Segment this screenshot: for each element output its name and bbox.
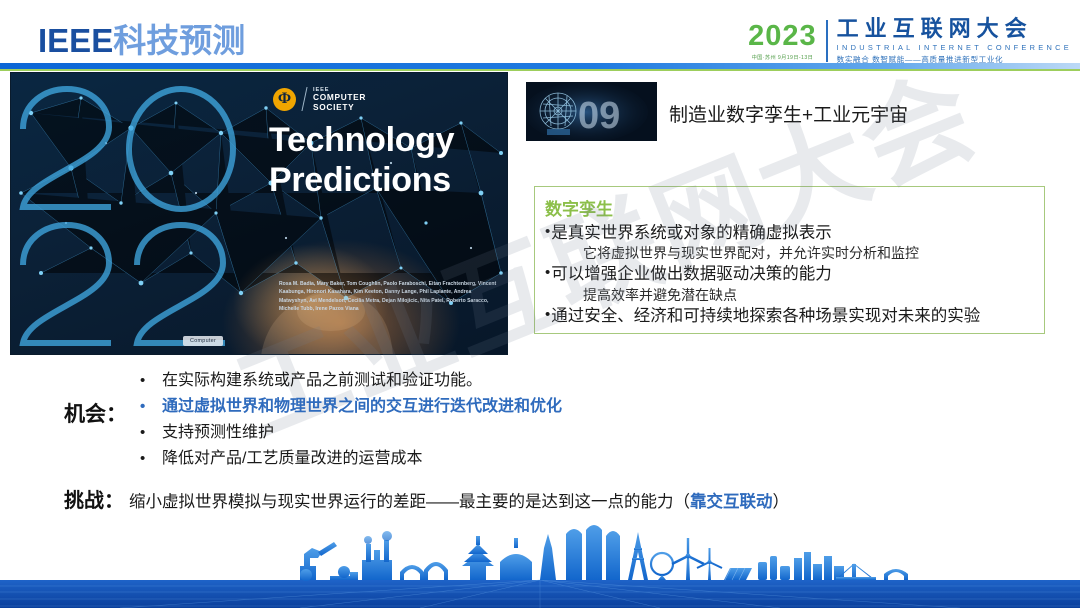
- logo-divider: [301, 87, 307, 111]
- bullet-marker: •: [545, 264, 550, 283]
- cover-badge: Computer: [183, 336, 223, 346]
- definition-title: 数字孪生: [545, 195, 1034, 220]
- conference-name-en: INDUSTRIAL INTERNET CONFERENCE: [837, 43, 1072, 52]
- opportunity-text: 降低对产品/工艺质量改进的运营成本: [162, 446, 422, 472]
- page-title: IEEE科技预测: [38, 14, 245, 62]
- logo-text: IEEE COMPUTER SOCIETY: [313, 87, 366, 112]
- bullet-text: 可以增强企业做出数据驱动决策的能力: [551, 264, 832, 285]
- item-number-graphic: 09: [578, 95, 620, 137]
- conference-logo-divider: [826, 20, 828, 62]
- conference-date: 中国·苏州 9月19日-13日: [752, 54, 814, 61]
- challenge-text: 缩小虚拟世界模拟与现实世界运行的差距——最主要的是达到这一点的能力（: [129, 488, 690, 512]
- digital-twin-definition-box: 数字孪生 • 是真实世界系统或对象的精确虚拟表示 它将虚拟世界与现实世界配对，并…: [534, 186, 1045, 334]
- definition-subtext: 提高效率并避免潜在缺点: [583, 286, 1034, 306]
- bullet-marker: •: [545, 223, 550, 242]
- conference-name-cn: 工业互联网大会: [837, 17, 1072, 40]
- challenge-paren-close: ）: [773, 488, 790, 512]
- bullet-marker: •: [140, 369, 162, 393]
- challenge-highlight: 靠交互联动: [690, 488, 773, 512]
- footer-skyline-graphic: [0, 518, 1080, 608]
- opportunity-text: 通过虚拟世界和物理世界之间的交互进行迭代改进和优化: [162, 394, 562, 420]
- bullet-marker: •: [140, 421, 162, 445]
- opportunity-item: • 降低对产品/工艺质量改进的运营成本: [140, 446, 764, 472]
- opportunities-label: 机会：: [64, 398, 127, 428]
- page-title-secondary: 科技预测: [113, 22, 245, 59]
- opportunity-text: 支持预测性维护: [162, 420, 274, 446]
- definition-bullet: • 可以增强企业做出数据驱动决策的能力: [545, 264, 1034, 285]
- industrial-fan-graphic: 09: [526, 82, 657, 141]
- cover-title: Technology Predictions: [269, 121, 454, 201]
- bullet-marker: •: [545, 306, 550, 325]
- definition-subtext: 它将虚拟世界与现实世界配对，并允许实时分析和监控: [583, 244, 1034, 264]
- bullet-marker: •: [140, 395, 162, 419]
- bullet-text: 通过安全、经济和可持续地探索各种场景实现对未来的实验: [551, 306, 980, 327]
- opportunities-list: • 在实际构建系统或产品之前测试和验证功能。 • 通过虚拟世界和物理世界之间的交…: [140, 368, 764, 472]
- bullet-text: 是真实世界系统或对象的精确虚拟表示: [551, 223, 832, 244]
- logo-society-label: SOCIETY: [313, 103, 366, 112]
- conference-year: 2023: [748, 22, 817, 51]
- cover-year-2022-graphic: [10, 72, 255, 355]
- conference-year-block: 2023 中国·苏州 9月19日-13日: [748, 18, 826, 64]
- opportunities-section: 机会： • 在实际构建系统或产品之前测试和验证功能。 • 通过虚拟世界和物理世界…: [64, 368, 764, 472]
- challenge-section: 挑战： 缩小虚拟世界模拟与现实世界运行的差距——最主要的是达到这一点的能力（ 靠…: [64, 484, 789, 513]
- ieee-computer-society-logo: Φ IEEE COMPUTER SOCIETY: [273, 87, 366, 112]
- opportunity-item: • 支持预测性维护: [140, 420, 764, 446]
- opportunity-item-highlighted: • 通过虚拟世界和物理世界之间的交互进行迭代改进和优化: [140, 394, 764, 420]
- conference-logo: 2023 中国·苏州 9月19日-13日 工业互联网大会 INDUSTRIAL …: [748, 18, 1072, 64]
- definition-bullet: • 是真实世界系统或对象的精确虚拟表示: [545, 223, 1034, 244]
- opportunity-text: 在实际构建系统或产品之前测试和验证功能。: [162, 368, 482, 394]
- technology-predictions-cover-image: Φ IEEE COMPUTER SOCIETY Technology Predi…: [10, 72, 508, 355]
- cover-title-line2: Predictions: [269, 161, 454, 201]
- item-heading: 制造业数字孪生+工业元宇宙: [669, 100, 908, 127]
- conference-name-block: 工业互联网大会 INDUSTRIAL INTERNET CONFERENCE 数…: [837, 18, 1072, 64]
- definition-bullet: • 通过安全、经济和可持续地探索各种场景实现对未来的实验: [545, 306, 1034, 327]
- item-09-thumbnail: 09: [526, 82, 657, 141]
- challenge-label: 挑战：: [64, 484, 124, 513]
- ieee-emblem-icon: Φ: [273, 88, 296, 111]
- opportunity-item: • 在实际构建系统或产品之前测试和验证功能。: [140, 368, 764, 394]
- cover-title-line1: Technology: [269, 121, 454, 161]
- slide-header: IEEE科技预测 2023 中国·苏州 9月19日-13日 工业互联网大会 IN…: [0, 0, 1080, 68]
- header-divider-green: [0, 69, 1080, 71]
- bullet-marker: •: [140, 447, 162, 471]
- page-title-primary: IEEE: [38, 22, 113, 59]
- cover-authors: Rosa M. Badia, Mary Baker, Tom Coughlin,…: [279, 280, 501, 313]
